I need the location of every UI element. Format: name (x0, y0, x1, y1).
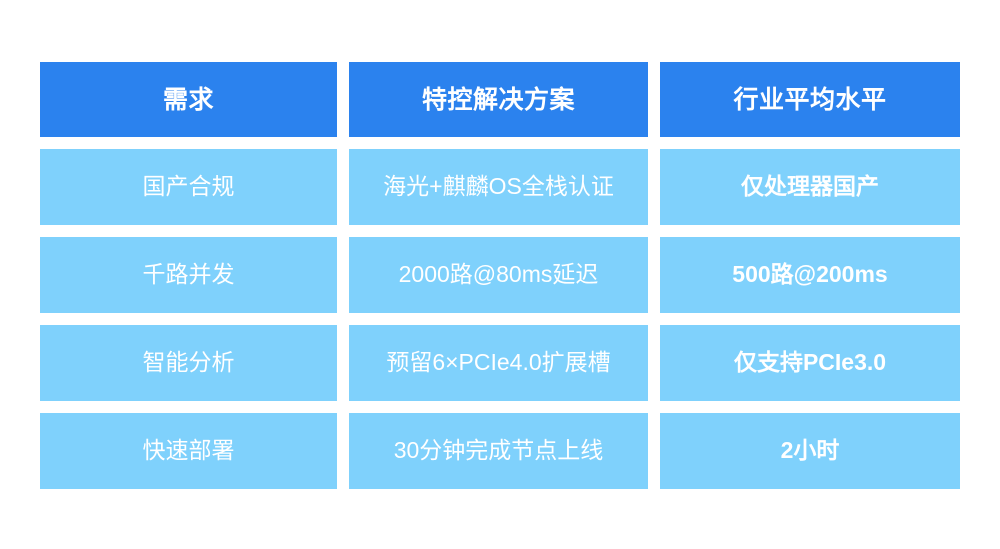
table-header-cell-industry: 行业平均水平 (660, 62, 960, 137)
cell-solution-3: 预留6×PCIe4.0扩展槽 (349, 325, 648, 401)
cell-industry-1: 仅处理器国产 (660, 149, 960, 225)
cell-solution-4: 30分钟完成节点上线 (349, 413, 648, 489)
cell-solution-1: 海光+麒麟OS全栈认证 (349, 149, 648, 225)
cell-requirement-2: 千路并发 (40, 237, 337, 313)
table-row: 国产合规 海光+麒麟OS全栈认证 仅处理器国产 (40, 149, 960, 225)
table-row: 快速部署 30分钟完成节点上线 2小时 (40, 413, 960, 489)
cell-solution-2: 2000路@80ms延迟 (349, 237, 648, 313)
table-row: 千路并发 2000路@80ms延迟 500路@200ms (40, 237, 960, 313)
cell-requirement-1: 国产合规 (40, 149, 337, 225)
table-header-row: 需求 特控解决方案 行业平均水平 (40, 62, 960, 137)
table-header-cell-requirement: 需求 (40, 62, 337, 137)
table-row: 智能分析 预留6×PCIe4.0扩展槽 仅支持PCIe3.0 (40, 325, 960, 401)
cell-industry-2: 500路@200ms (660, 237, 960, 313)
cell-requirement-3: 智能分析 (40, 325, 337, 401)
cell-industry-3: 仅支持PCIe3.0 (660, 325, 960, 401)
cell-requirement-4: 快速部署 (40, 413, 337, 489)
table-header-cell-solution: 特控解决方案 (349, 62, 648, 137)
cell-industry-4: 2小时 (660, 413, 960, 489)
comparison-table: 需求 特控解决方案 行业平均水平 国产合规 海光+麒麟OS全栈认证 仅处理器国产… (40, 62, 960, 490)
